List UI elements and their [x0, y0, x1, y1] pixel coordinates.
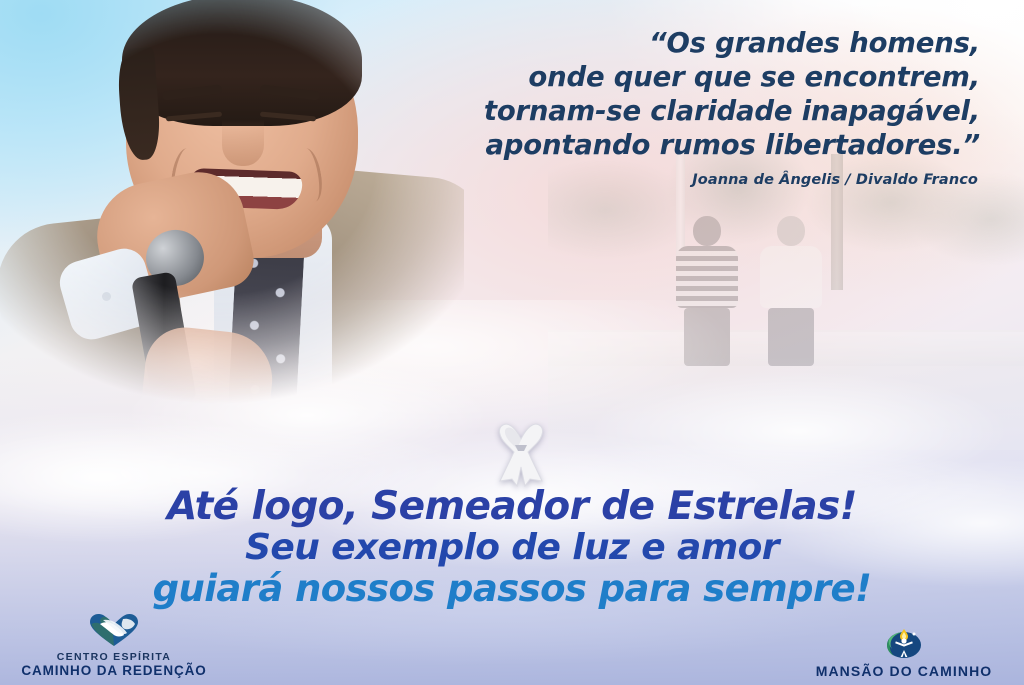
quote-text: “Os grandes homens, onde quer que se enc… [360, 26, 980, 162]
quote-line-2: onde quer que se encontrem, [360, 60, 980, 94]
headline-line-2: Seu exemplo de luz e amor [0, 528, 1024, 568]
logo-mansao-do-caminho: MANSÃO DO CAMINHO [794, 625, 1014, 679]
tribute-poster: “Os grandes homens, onde quer que se enc… [0, 0, 1024, 685]
heart-hands-icon [14, 613, 214, 647]
portrait-cuff-button [102, 292, 111, 301]
quote-line-3: tornam-se claridade inapagável, [360, 94, 980, 128]
globe-figure-flame-icon [794, 625, 1014, 659]
quote-line-4: apontando rumos libertadores.” [360, 128, 980, 162]
quote-line-1: “Os grandes homens, [360, 26, 980, 60]
portrait-hair-side [116, 47, 162, 161]
quote-attribution: Joanna de Ângelis / Divaldo Franco [358, 172, 978, 188]
logo-right-line-1: MANSÃO DO CAMINHO [794, 663, 1014, 679]
headline-line-1: Até logo, Semeador de Estrelas! [0, 486, 1024, 528]
logo-left-line-1: CENTRO ESPÍRITA [14, 651, 214, 663]
logo-centro-espirita: CENTRO ESPÍRITA CAMINHO DA REDENÇÃO [14, 613, 214, 679]
white-mourning-ribbon-icon [484, 409, 558, 487]
headline-message: Até logo, Semeador de Estrelas! Seu exem… [0, 486, 1024, 609]
portrait-nose [222, 120, 264, 166]
logo-left-line-2: CAMINHO DA REDENÇÃO [14, 663, 214, 679]
headline-line-3: guiará nossos passos para sempre! [0, 568, 1024, 609]
